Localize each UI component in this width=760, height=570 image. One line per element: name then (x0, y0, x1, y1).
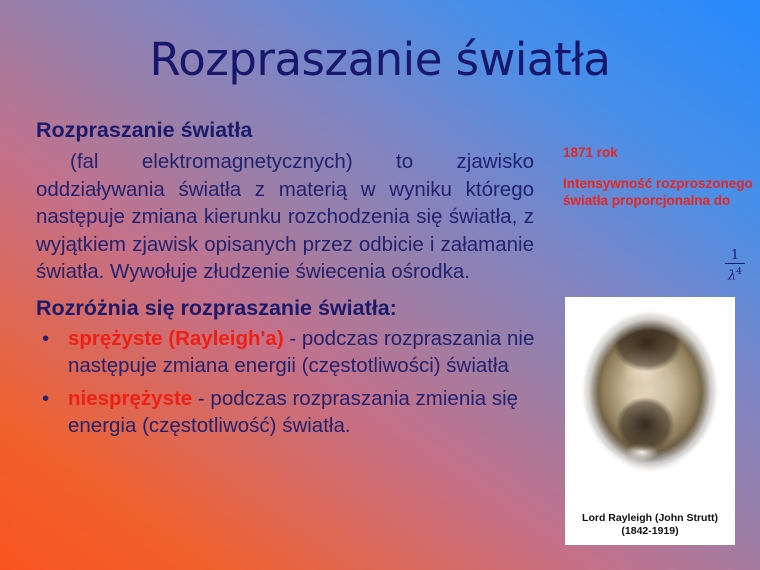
list-item: • niesprężyste - podczas rozpraszania zm… (36, 385, 536, 440)
definition-paragraph: (fal elektromagnetycznych) to zjawisko o… (36, 148, 536, 286)
portrait-caption-line1: Lord Rayleigh (John Strutt) (565, 512, 735, 525)
bullet-dot-icon: • (42, 325, 49, 353)
formula-fraction-bar (725, 263, 745, 264)
year-note: 1871 rok (563, 144, 759, 162)
intensity-note-wrapper: Intensywność rozproszonego światła propo… (563, 175, 759, 210)
list-item: • sprężyste (Rayleigh'a) - podczas rozpr… (36, 325, 536, 380)
bullet-dot-icon: • (42, 385, 49, 413)
portrait-card: Lord Rayleigh (John Strutt) (1842-1919) (565, 297, 735, 545)
right-content-column: 1871 rok Intensywność rozproszonego świa… (563, 144, 759, 210)
portrait-vignette (572, 303, 728, 499)
rayleigh-formula: 1 λ4 (715, 249, 755, 283)
formula-exponent: 4 (736, 267, 742, 277)
formula-denominator: λ4 (715, 265, 755, 283)
presentation-slide: Rozpraszanie światła Rozpraszanie światł… (0, 0, 760, 570)
left-content-column: Rozpraszanie światła (fal elektromagnety… (36, 116, 536, 445)
portrait-caption-line2: (1842-1919) (565, 525, 735, 538)
intensity-note: Intensywność rozproszonego światła propo… (563, 175, 759, 210)
formula-numerator: 1 (715, 249, 755, 262)
portrait-photo (572, 303, 728, 499)
bullet-text: niesprężyste - podczas rozpraszania zmie… (68, 387, 518, 438)
formula-lambda-symbol: λ (728, 268, 736, 283)
bullet-text: sprężyste (Rayleigh'a) - podczas rozpras… (68, 327, 534, 378)
definition-heading: Rozpraszanie światła (36, 116, 536, 144)
portrait-caption: Lord Rayleigh (John Strutt) (1842-1919) (565, 512, 735, 537)
slide-title: Rozpraszanie światła (0, 33, 760, 87)
bullet-highlight-inelastic: niesprężyste (68, 387, 192, 410)
types-heading: Rozróżnia się rozpraszanie światła: (36, 294, 536, 322)
bullet-highlight-elastic: sprężyste (Rayleigh'a) (68, 327, 284, 350)
